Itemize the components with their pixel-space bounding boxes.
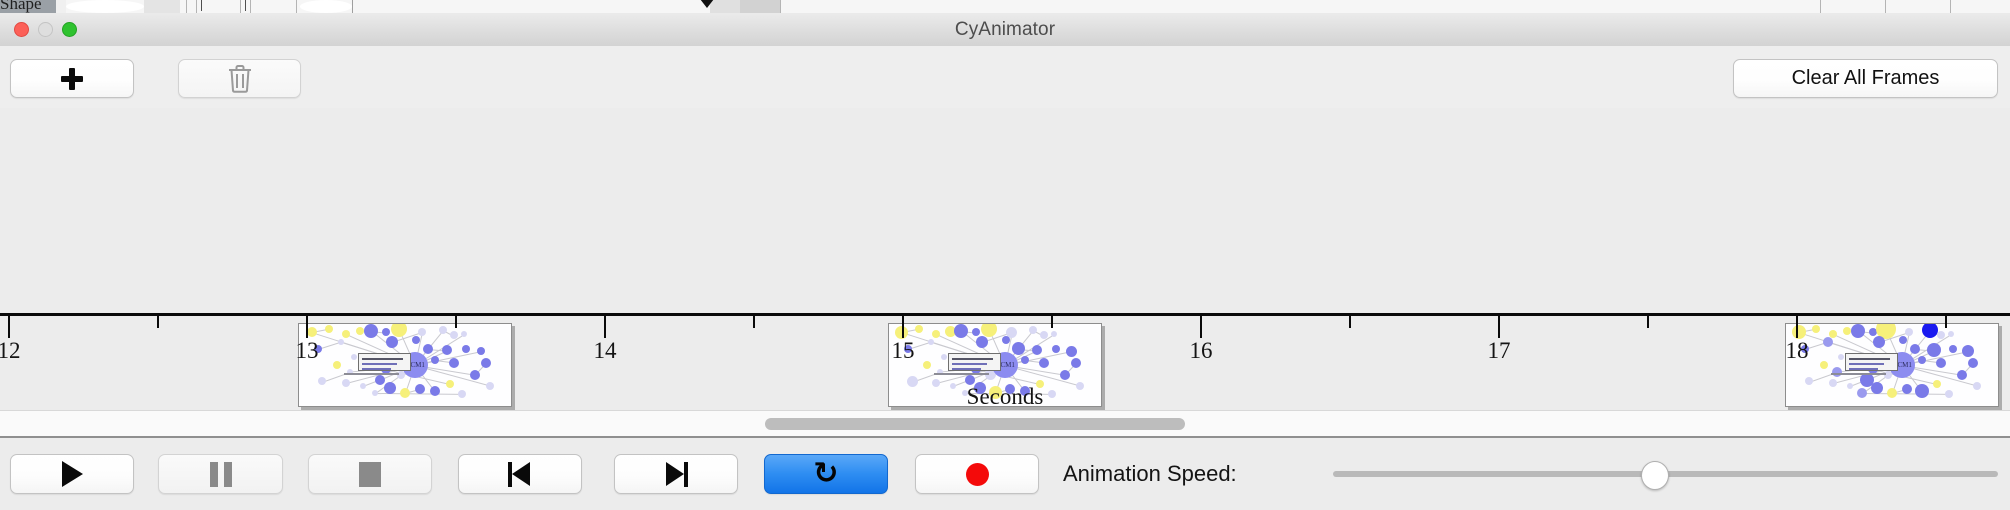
- graph-node: [386, 336, 398, 348]
- graph-node: [418, 328, 426, 336]
- graph-node: [412, 336, 420, 344]
- graph-caption-text: [934, 373, 989, 375]
- graph-node: [1936, 358, 1946, 368]
- graph-node: [382, 328, 390, 336]
- playback-controls: ↻ Animation Speed:: [0, 440, 2010, 510]
- graph-node: [423, 344, 433, 354]
- axis-tick-label: 16: [1190, 338, 1213, 364]
- add-frame-button[interactable]: [10, 59, 134, 98]
- graph-node: [923, 361, 931, 369]
- play-button[interactable]: [10, 454, 134, 494]
- graph-node: [462, 345, 470, 353]
- title-bar: CyAnimator: [0, 13, 2010, 47]
- axis-tick-minor: [1945, 316, 1947, 328]
- graph-node: [972, 328, 980, 336]
- graph-node: [1052, 345, 1060, 353]
- graph-node: [1949, 345, 1957, 353]
- graph-node: [1012, 342, 1025, 355]
- graph-caption-text: [1831, 373, 1886, 375]
- graph-node: [1032, 345, 1042, 355]
- timeline-axis-line: [0, 313, 2010, 316]
- graph-node: [1823, 337, 1833, 347]
- graph-node: [928, 339, 934, 345]
- stop-button[interactable]: [308, 454, 432, 494]
- loop-icon: ↻: [813, 459, 838, 489]
- axis-tick-major: [604, 316, 606, 338]
- annotation-line: [362, 358, 403, 360]
- graph-node: [1838, 354, 1844, 360]
- graph-node: [477, 347, 485, 355]
- graph-node: [333, 361, 341, 369]
- graph-node: [954, 324, 968, 338]
- axis-tick-label: 17: [1488, 338, 1511, 364]
- axis-tick-major: [1796, 316, 1798, 338]
- graph-node: [338, 339, 344, 345]
- annotation-line: [362, 363, 397, 365]
- delete-frame-button[interactable]: [178, 59, 301, 98]
- graph-node: [461, 331, 467, 337]
- scrollbar-thumb[interactable]: [765, 418, 1185, 430]
- axis-title: Seconds: [0, 384, 2010, 410]
- annotation-line: [1849, 363, 1884, 365]
- graph-node: [481, 358, 491, 368]
- graph-node: [342, 330, 350, 338]
- annotation-line: [1849, 358, 1890, 360]
- graph-node: [364, 324, 378, 338]
- annotation-line: [952, 368, 981, 370]
- axis-tick-minor: [1051, 316, 1053, 328]
- graph-node: [1029, 326, 1037, 334]
- pause-icon: [210, 462, 232, 487]
- graph-node: [1051, 331, 1057, 337]
- axis-tick-major: [8, 316, 10, 338]
- graph-node: [932, 330, 940, 338]
- axis-tick-label: 18: [1786, 338, 1809, 364]
- timeline-panel[interactable]: MCM1MCM1MCM1 12131415161718 Seconds: [0, 108, 2010, 410]
- play-icon: [62, 461, 83, 487]
- graph-node: [1968, 358, 1978, 368]
- graph-annotation-box: [1845, 353, 1898, 371]
- graph-node: [1002, 336, 1010, 344]
- graph-node: [1021, 356, 1029, 364]
- graph-node: [1039, 358, 1049, 368]
- axis-tick-label: 14: [594, 338, 617, 364]
- trash-icon: [227, 64, 253, 93]
- window-title: CyAnimator: [0, 13, 2010, 46]
- record-icon: [966, 463, 989, 486]
- graph-caption-text: [344, 373, 399, 375]
- axis-tick-major: [1498, 316, 1500, 338]
- timeline-scrollbar[interactable]: [0, 410, 2010, 438]
- graph-node: [391, 323, 407, 337]
- axis-tick-minor: [753, 316, 755, 328]
- axis-tick-label: 13: [296, 338, 319, 364]
- graph-node: [1962, 345, 1974, 357]
- graph-node: [442, 345, 452, 355]
- graph-node: [449, 358, 459, 368]
- graph-node: [981, 323, 997, 337]
- graph-node: [351, 354, 357, 360]
- axis-tick-minor: [1647, 316, 1649, 328]
- graph-node: [941, 354, 947, 360]
- axis-tick-minor: [1349, 316, 1351, 328]
- graph-node: [307, 327, 317, 337]
- graph-node: [1071, 358, 1081, 368]
- background-window-strip: Shape | |: [0, 0, 2010, 14]
- graph-node: [439, 326, 447, 334]
- axis-tick-major: [306, 316, 308, 338]
- graph-node: [1948, 331, 1954, 337]
- graph-node: [1066, 346, 1077, 357]
- graph-node: [1873, 336, 1885, 348]
- annotation-line: [952, 358, 993, 360]
- graph-node: [1922, 323, 1938, 338]
- clear-all-frames-button[interactable]: Clear All Frames: [1733, 59, 1998, 98]
- graph-node: [1918, 356, 1926, 364]
- background-window-label: Shape: [0, 0, 42, 14]
- annotation-line: [1849, 368, 1878, 370]
- graph-node: [431, 356, 439, 364]
- slider-thumb[interactable]: [1641, 461, 1669, 490]
- graph-node: [1899, 336, 1907, 344]
- axis-tick-label: 15: [892, 338, 915, 364]
- record-button[interactable]: [915, 454, 1039, 494]
- stop-icon: [359, 462, 381, 487]
- axis-tick-minor: [455, 316, 457, 328]
- animation-speed-slider[interactable]: [1333, 454, 1998, 494]
- skip-forward-icon: [664, 462, 688, 487]
- annotation-line: [952, 363, 987, 365]
- axis-tick-major: [902, 316, 904, 338]
- skip-back-button[interactable]: [458, 454, 582, 494]
- clear-all-frames-label: Clear All Frames: [1792, 67, 1940, 90]
- animation-speed-label: Animation Speed:: [1063, 454, 1237, 494]
- graph-node: [1927, 343, 1941, 357]
- graph-node: [1820, 361, 1828, 369]
- graph-node: [1957, 370, 1967, 380]
- skip-back-icon: [508, 462, 532, 487]
- graph-node: [1812, 325, 1820, 333]
- pause-button[interactable]: [158, 454, 283, 494]
- axis-tick-label: 12: [0, 338, 21, 364]
- axis-tick-minor: [157, 316, 159, 328]
- graph-node: [1905, 328, 1913, 336]
- loop-button[interactable]: ↻: [764, 454, 888, 494]
- graph-annotation-box: [948, 353, 1001, 371]
- axis-tick-major: [1200, 316, 1202, 338]
- graph-node: [470, 370, 480, 380]
- toolbar: Clear All Frames: [0, 46, 2010, 109]
- cyanimator-window: Shape | | CyAnimator Clear All Frames: [0, 0, 2010, 510]
- graph-annotation-box: [358, 353, 411, 371]
- plus-icon: [61, 68, 83, 90]
- graph-node: [915, 325, 923, 333]
- graph-node: [1060, 370, 1070, 380]
- graph-node: [1851, 324, 1865, 338]
- skip-forward-button[interactable]: [614, 454, 738, 494]
- graph-node: [325, 325, 333, 333]
- graph-node: [1910, 344, 1920, 354]
- graph-node: [976, 336, 988, 348]
- annotation-line: [362, 368, 391, 370]
